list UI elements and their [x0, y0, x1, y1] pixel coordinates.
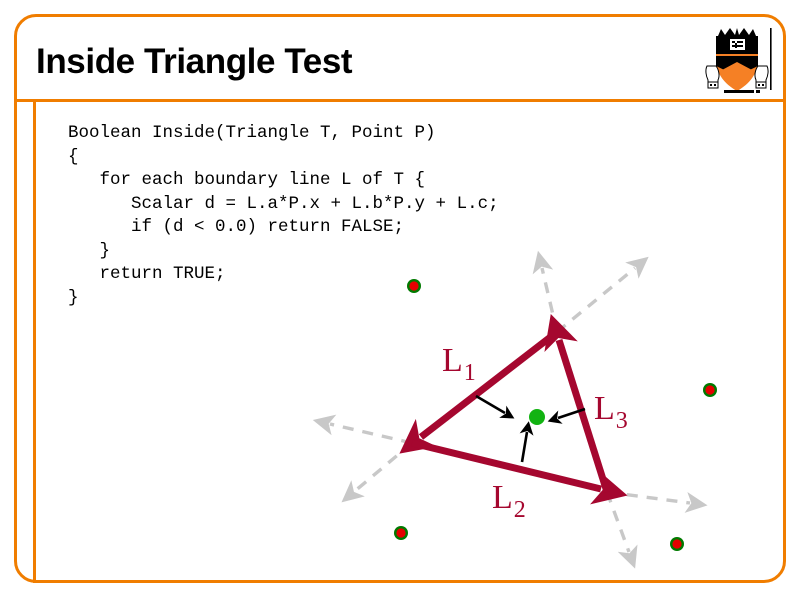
princeton-shield-icon [704, 26, 778, 96]
slide: Inside Triangle Test Boolean Inside(Tri [0, 0, 800, 600]
title-divider [16, 99, 784, 102]
code-block: Boolean Inside(Triangle T, Point P) { fo… [68, 122, 499, 310]
body-vertical-rule [33, 101, 36, 583]
page-title: Inside Triangle Test [36, 42, 352, 82]
